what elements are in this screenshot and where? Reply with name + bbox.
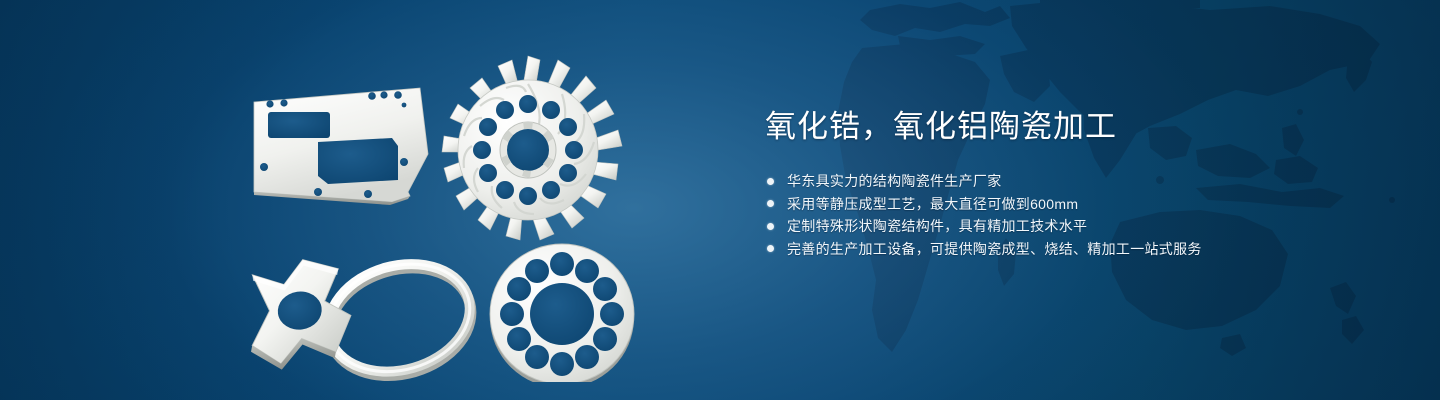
banner-copy: 氧化锆，氧化铝陶瓷加工 华东具实力的结构陶瓷件生产厂家 采用等静压成型工艺，最大… — [765, 108, 1385, 260]
ceramic-products-image — [232, 42, 712, 382]
bullet-dot-icon — [767, 178, 774, 185]
list-item-label: 华东具实力的结构陶瓷件生产厂家 — [787, 170, 1002, 193]
promo-banner: 氧化锆，氧化铝陶瓷加工 华东具实力的结构陶瓷件生产厂家 采用等静压成型工艺，最大… — [0, 0, 1440, 400]
list-item-label: 定制特殊形状陶瓷结构件，具有精加工技术水平 — [787, 215, 1087, 238]
ceramic-flat-plate-shape — [254, 88, 428, 205]
page-title: 氧化锆，氧化铝陶瓷加工 — [765, 108, 1385, 146]
list-item: 定制特殊形状陶瓷结构件，具有精加工技术水平 — [765, 215, 1385, 238]
bullet-dot-icon — [767, 245, 774, 252]
ceramic-impeller-shape — [442, 56, 622, 240]
bullet-dot-icon — [767, 200, 774, 207]
list-item: 华东具实力的结构陶瓷件生产厂家 — [765, 170, 1385, 193]
list-item-label: 完善的生产加工设备，可提供陶瓷成型、烧结、精加工一站式服务 — [787, 238, 1202, 261]
list-item: 完善的生产加工设备，可提供陶瓷成型、烧结、精加工一站式服务 — [765, 238, 1385, 261]
ceramic-perforated-disc-shape — [490, 244, 634, 382]
feature-list: 华东具实力的结构陶瓷件生产厂家 采用等静压成型工艺，最大直径可做到600mm 定… — [765, 170, 1385, 260]
bullet-dot-icon — [767, 223, 774, 230]
list-item-label: 采用等静压成型工艺，最大直径可做到600mm — [787, 193, 1078, 216]
list-item: 采用等静压成型工艺，最大直径可做到600mm — [765, 193, 1385, 216]
